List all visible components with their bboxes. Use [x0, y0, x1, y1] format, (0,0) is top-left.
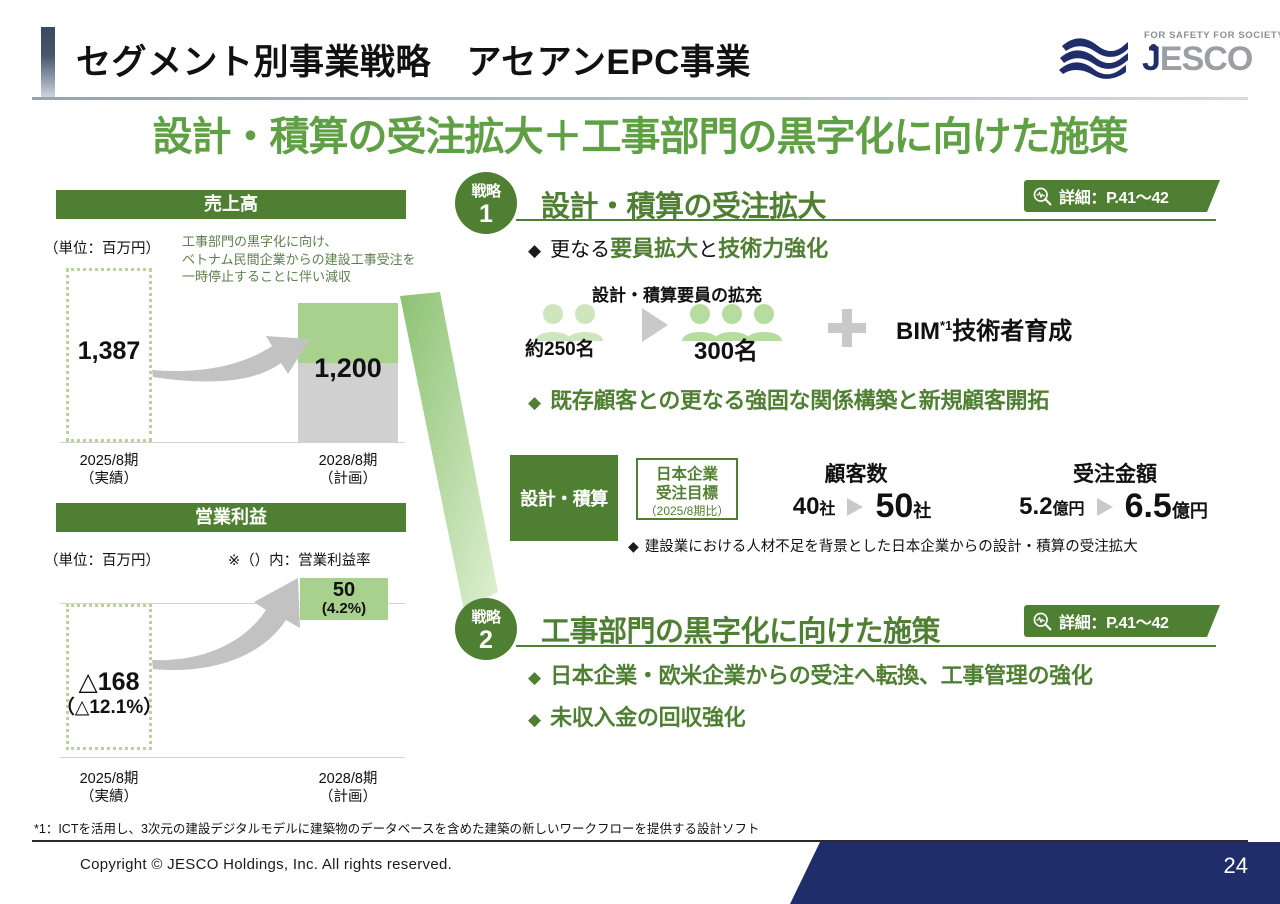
strategy-1-badge-number: 1: [455, 199, 517, 227]
goal-line-1: 日本企業: [638, 465, 736, 484]
profit-axis-actual-2: （実績）: [53, 788, 165, 806]
plus-icon: [826, 307, 868, 349]
profit-value-plan: 50: [300, 580, 388, 600]
profit-axis-plan-1: 2028/8期: [292, 770, 404, 788]
jesco-logo: FOR SAFETY FOR SOCIETY JESCO: [1058, 26, 1258, 88]
bim-footnote-marker: *1: [940, 318, 952, 333]
sales-note-line-2: ベトナム民間企業からの建設工事受注を: [182, 251, 416, 269]
logo-wave-mark: [1058, 32, 1136, 80]
diamond-bullet-icon: ◆: [528, 242, 541, 259]
metric-values-amount: 5.2億円 6.5億円: [1006, 487, 1221, 526]
bullet-1-mid: と: [698, 233, 718, 262]
diamond-bullet-icon: ◆: [528, 394, 541, 411]
chart-note-profit: ※（）内：営業利益率: [228, 549, 371, 570]
strategy-1-badge-label: 戦略: [455, 172, 517, 199]
customers-before: 40社: [793, 493, 836, 521]
magnifier-pulse-icon: [1032, 611, 1053, 632]
profit-rate-actual: （△12.1%）: [54, 692, 164, 719]
sales-baseline: [60, 442, 405, 443]
segment-label-box: 設計・積算: [510, 455, 618, 541]
strategy-2-rule: [516, 645, 1216, 647]
arrow-triangle-icon: [1094, 495, 1116, 519]
slide-footnote: *1：ICTを活用し、3次元の建設デジタルモデルに建築物のデータベースを含めた建…: [34, 818, 760, 837]
profit-axis-label-actual: 2025/8期 （実績）: [53, 770, 165, 806]
strategy-1-bullet-2: ◆ 既存顧客との更なる強固な関係構築と新規顧客開拓: [528, 383, 1049, 415]
goal-line-3: （2025/8期比）: [638, 504, 736, 520]
strategy-2-reference-badge[interactable]: 詳細：P.41〜42: [1024, 605, 1220, 637]
strategy-2-badge: 戦略 2: [455, 598, 517, 660]
strategy-1-bullet-1: ◆ 更なる 要員拡大 と 技術力強化: [528, 231, 828, 263]
sales-trend-arrow: [150, 330, 315, 390]
diamond-bullet-icon: ◆: [528, 669, 541, 686]
strategy-2-badge-number: 2: [455, 625, 517, 653]
strategy-1-note: ◆ 建設業における人材不足を背景とした日本企業からの設計・積算の受注拡大: [628, 535, 1138, 556]
chart-title-profit: 営業利益: [56, 503, 406, 532]
logo-wordmark: JESCO: [1142, 40, 1252, 79]
footer-band: [0, 842, 1280, 904]
green-connector-band: [380, 292, 520, 612]
strategy-2-badge-label: 戦略: [455, 598, 517, 625]
sales-note-line-3: 一時停止することに伴い減収: [182, 268, 416, 286]
goal-line-2: 受注目標: [638, 484, 736, 503]
profit-bar-plan: 50 (4.2%): [300, 578, 388, 620]
strategy-2-bullet-2-text: 未収入金の回収強化: [550, 700, 745, 732]
japan-order-goal-box: 日本企業 受注目標 （2025/8期比）: [636, 458, 738, 520]
profit-baseline: [60, 757, 405, 758]
sales-note-line-1: 工事部門の黒字化に向け、: [182, 233, 416, 251]
profit-axis-label-plan: 2028/8期 （計画）: [292, 770, 404, 806]
progress-triangle-icon: [638, 306, 672, 344]
staff-count-before: 約250名: [525, 334, 595, 361]
strategy-1-reference-text: 詳細：P.41〜42: [1059, 184, 1169, 208]
metric-title-customers: 顧客数: [766, 458, 946, 488]
diamond-bullet-icon: ◆: [628, 539, 639, 553]
strategy-1-rule: [516, 219, 1216, 221]
strategy-2-title: 工事部門の黒字化に向けた施策: [541, 608, 940, 650]
sales-axis-actual-1: 2025/8期: [53, 452, 165, 470]
sales-axis-actual-2: （実績）: [53, 470, 165, 488]
header-divider: [32, 97, 1248, 100]
strategy-2-bullet-1: ◆ 日本企業・欧米企業からの受注へ転換、工事管理の強化: [528, 658, 1093, 690]
amount-after: 6.5億円: [1125, 487, 1208, 526]
strategy-2-bullet-1-text: 日本企業・欧米企業からの受注へ転換、工事管理の強化: [550, 658, 1093, 690]
bim-training-label: BIM*1技術者育成: [896, 311, 1072, 346]
bullet-2-text: 既存顧客との更なる強固な関係構築と新規顧客開拓: [550, 383, 1049, 415]
bim-word: BIM: [896, 318, 940, 345]
slide-root: セグメント別事業戦略 アセアンEPC事業 FOR SAFETY FOR SOCI…: [0, 0, 1280, 904]
bullet-1-emphasis-b: 技術力強化: [718, 231, 828, 263]
staff-count-after: 300名: [694, 331, 758, 366]
diamond-bullet-icon: ◆: [528, 711, 541, 728]
strategy-2-bullet-2: ◆ 未収入金の回収強化: [528, 700, 745, 732]
chart-unit-profit: （単位：百万円）: [44, 549, 160, 570]
badge-tail-shape: [1202, 605, 1220, 637]
profit-axis-actual-1: 2025/8期: [53, 770, 165, 788]
strategy-1-note-text: 建設業における人材不足を背景とした日本企業からの設計・積算の受注拡大: [645, 535, 1138, 556]
logo-dot: [1150, 44, 1157, 51]
slide-headline: 設計・積算の受注拡大＋工事部門の黒字化に向けた施策: [0, 104, 1280, 162]
header-accent-bar: [41, 27, 55, 97]
metric-values-customers: 40社 50社: [772, 487, 952, 526]
profit-rate-plan: (4.2%): [300, 600, 388, 617]
page-title: セグメント別事業戦略 アセアンEPC事業: [76, 34, 751, 85]
customers-after: 50社: [875, 487, 931, 526]
page-number: 24: [1224, 853, 1248, 879]
amount-before: 5.2億円: [1019, 493, 1084, 521]
copyright-text: Copyright © JESCO Holdings, Inc. All rig…: [80, 856, 452, 873]
metric-title-amount: 受注金額: [1010, 458, 1220, 488]
strategy-1-reference-badge[interactable]: 詳細：P.41〜42: [1024, 180, 1220, 212]
bullet-1-pre: 更なる: [550, 233, 610, 262]
chart-title-sales: 売上高: [56, 190, 406, 219]
profit-axis-plan-2: （計画）: [292, 788, 404, 806]
arrow-triangle-icon: [844, 495, 866, 519]
strategy-2-reference-text: 詳細：P.41〜42: [1059, 609, 1169, 633]
strategy-1-badge: 戦略 1: [455, 172, 517, 234]
sales-axis-label-actual: 2025/8期 （実績）: [53, 452, 165, 488]
badge-tail-shape: [1202, 180, 1220, 212]
magnifier-pulse-icon: [1032, 186, 1053, 207]
bullet-1-emphasis-a: 要員拡大: [610, 231, 698, 263]
sales-value-actual: 1,387: [58, 337, 160, 366]
chart-unit-sales: （単位：百万円）: [44, 237, 160, 258]
profit-trend-arrow: [150, 576, 310, 672]
bim-rest: 技術者育成: [952, 318, 1072, 345]
